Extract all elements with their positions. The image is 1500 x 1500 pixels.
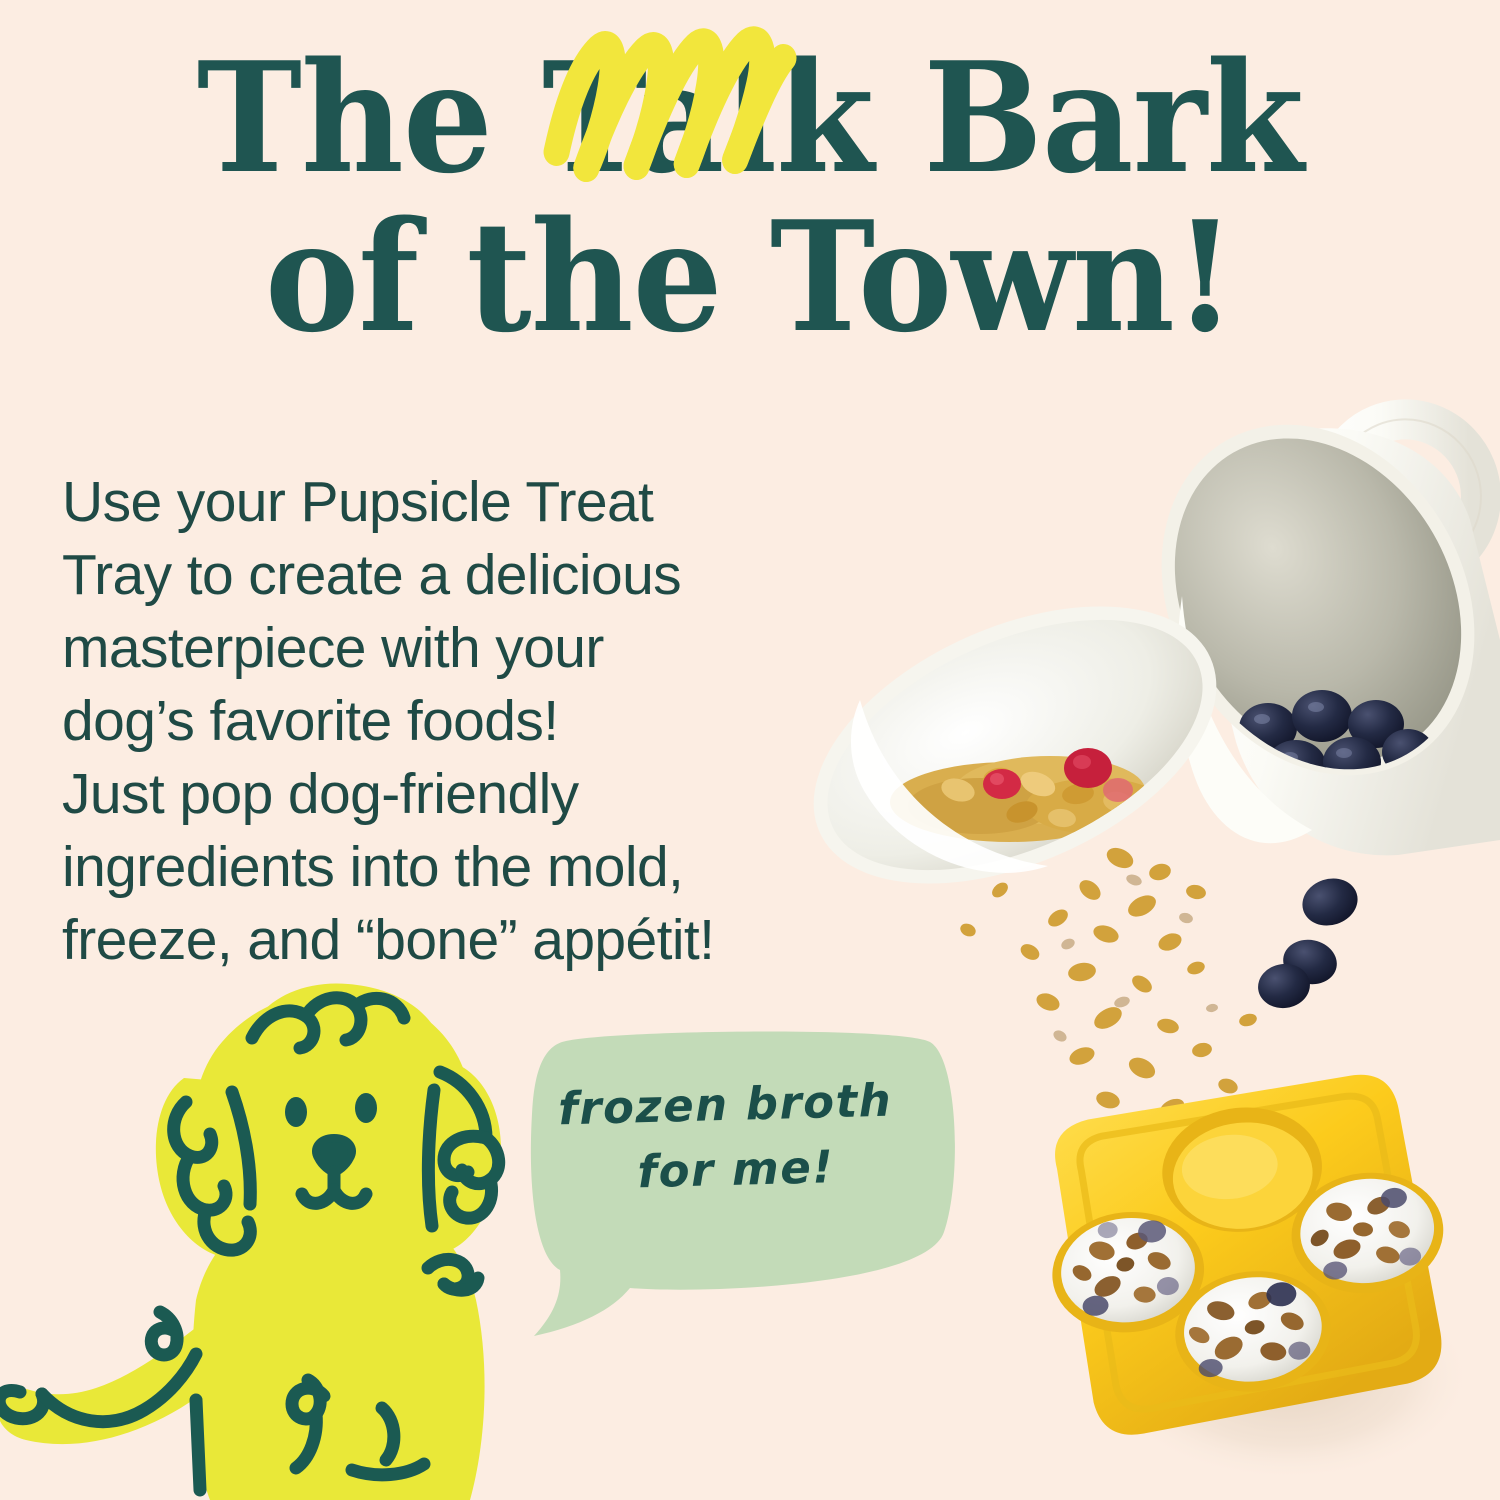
body-line-7: freeze, and “bone” appétit! [62, 904, 922, 977]
dog-eye-right [355, 1093, 377, 1123]
body-line-3: masterpiece with your [62, 612, 922, 685]
struck-word-text: Talk [542, 28, 873, 207]
tray-well-empty [1156, 1100, 1328, 1240]
speech-bubble: frozen broth for me! [521, 1028, 971, 1328]
bubble-line-2: for me! [539, 1132, 933, 1207]
body-copy: Use your Pupsicle Treat Tray to create a… [62, 466, 922, 977]
dog-body-fill [0, 983, 501, 1500]
page-headline: The Talk Bark of the Town! [0, 44, 1500, 352]
body-line-1: Use your Pupsicle Treat [62, 466, 922, 539]
dog-eye-left [285, 1097, 307, 1127]
speech-bubble-text: frozen broth for me! [519, 1067, 932, 1208]
headline-suffix: Bark [875, 28, 1303, 207]
bubble-line-1: frozen broth [558, 1074, 893, 1136]
headline-line-2: of the Town! [53, 203, 1448, 352]
marketing-graphic: frozen broth for me! The Talk Bark of th… [0, 0, 1500, 1500]
raspberry [1064, 748, 1112, 788]
tray-well-filled-left [1046, 1205, 1210, 1340]
body-line-2: Tray to create a delicious [62, 539, 922, 612]
tray-well-filled-bottom [1169, 1264, 1337, 1400]
tray-shadow [1102, 1270, 1474, 1482]
headline-line-1: The Talk Bark [53, 44, 1448, 193]
pupsicle-treat-tray [1035, 1068, 1462, 1442]
body-line-5: Just pop dog-friendly [62, 758, 922, 831]
raspberry [983, 769, 1021, 799]
dog-outline-strokes [0, 998, 499, 1490]
raspberry [1103, 778, 1133, 802]
falling-granola [958, 844, 1364, 1144]
blueberries-in-mug [1225, 690, 1434, 889]
blueberry-mug [1100, 368, 1500, 889]
falling-blueberries [1255, 871, 1364, 1011]
headline-struck-word: Talk [540, 44, 875, 193]
granola-in-bowl [890, 748, 1166, 842]
body-line-4: dog’s favorite foods! [62, 685, 922, 758]
tray-well-filled-right [1286, 1165, 1450, 1300]
headline-prefix: The [197, 28, 540, 207]
body-line-6: ingredients into the mold, [62, 831, 922, 904]
dog-nose [316, 1138, 352, 1172]
